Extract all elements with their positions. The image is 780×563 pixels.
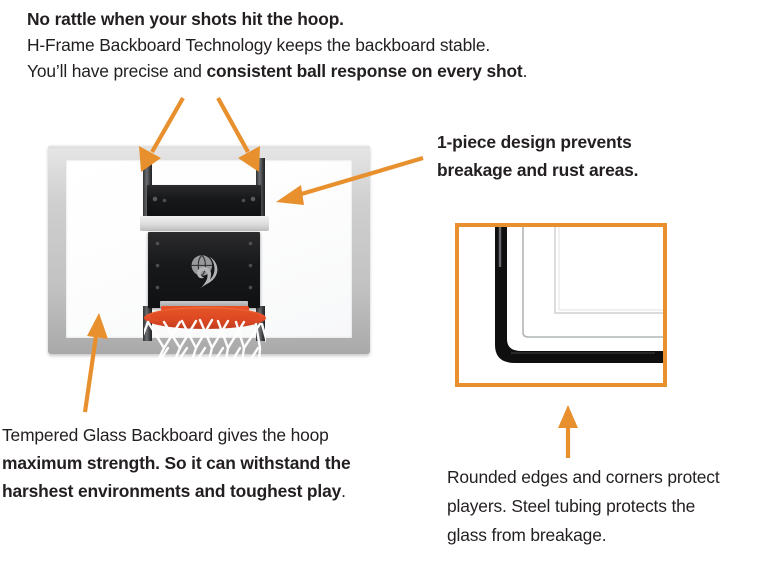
- headline-line-3-bold: consistent ball response on every shot: [206, 61, 522, 81]
- callout-bottom-left-line-3-period: .: [341, 481, 346, 501]
- arrow-to-inset-photo: [558, 405, 578, 458]
- callout-bottom-right-line-2: players. Steel tubing protects the: [447, 492, 720, 521]
- callout-top-right-line-2: breakage and rust areas.: [437, 156, 638, 184]
- callout-bottom-left-line-1: Tempered Glass Backboard gives the hoop: [2, 421, 350, 449]
- bolt-icon: [249, 242, 252, 245]
- bolt-icon: [251, 197, 255, 201]
- callout-bottom-left: Tempered Glass Backboard gives the hoop …: [2, 421, 350, 505]
- h-frame-crossbar: [140, 216, 269, 231]
- bolt-icon: [249, 264, 252, 267]
- bolt-icon: [249, 286, 252, 289]
- main-backing-plate: [148, 232, 260, 308]
- basketball-net-icon: [144, 318, 266, 410]
- basketball-flame-logo-icon: [185, 252, 225, 290]
- headline-line-2: H-Frame Backboard Technology keeps the b…: [27, 32, 527, 58]
- bolt-icon: [156, 242, 159, 245]
- headline-line-1: No rattle when your shots hit the hoop.: [27, 6, 527, 32]
- callout-bottom-right: Rounded edges and corners protect player…: [447, 463, 720, 550]
- headline-line-3: You’ll have precise and consistent ball …: [27, 58, 527, 84]
- callout-top-right-line-1: 1-piece design prevents: [437, 128, 638, 156]
- headline-block: No rattle when your shots hit the hoop. …: [27, 6, 527, 84]
- bolt-icon: [242, 199, 245, 202]
- headline-line-3-period: .: [523, 61, 528, 81]
- callout-bottom-left-line-3: harshest environments and toughest play.: [2, 477, 350, 505]
- headline-line-3-regular: You’ll have precise and: [27, 61, 206, 81]
- rounded-corner-closeup-photo: [455, 223, 667, 387]
- callout-bottom-left-line-2: maximum strength. So it can withstand th…: [2, 449, 350, 477]
- callout-top-right: 1-piece design prevents breakage and rus…: [437, 128, 638, 184]
- upper-mounting-plate: [147, 185, 261, 216]
- callout-bottom-left-line-3-bold: harshest environments and toughest play: [2, 481, 341, 501]
- bolt-icon: [156, 286, 159, 289]
- bolt-icon: [163, 199, 166, 202]
- backboard-figure: [44, 142, 374, 407]
- infographic-canvas: No rattle when your shots hit the hoop. …: [0, 0, 780, 563]
- callout-bottom-right-line-3: glass from breakage.: [447, 521, 720, 550]
- bolt-icon: [156, 264, 159, 267]
- callout-bottom-right-line-1: Rounded edges and corners protect: [447, 463, 720, 492]
- bolt-icon: [153, 197, 157, 201]
- backboard-corner-illustration: [459, 227, 663, 383]
